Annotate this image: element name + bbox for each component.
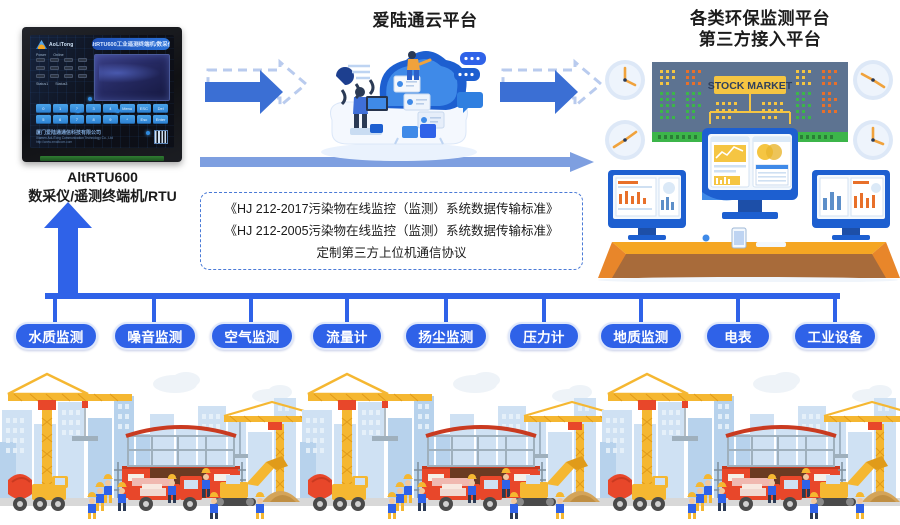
sensor-tag-2[interactable]: 空气监测 (210, 322, 294, 350)
rtu-device-image: AoLiTong AltRTU600工业遥测终端机/数采仪 Power Onli… (22, 27, 182, 162)
qr-code-icon (154, 130, 168, 144)
board-label-text: STOCK MARKET (708, 80, 793, 92)
led-indicator (50, 66, 59, 70)
bus-drop-line (249, 299, 253, 322)
bus-drop-line (53, 299, 57, 322)
monitor-platform-title-line2: 第三方接入平台 (620, 29, 900, 50)
device-terminal-strip (40, 156, 164, 161)
circuit-node-dot (76, 109, 80, 113)
solid-arrow (205, 70, 283, 114)
monitor-platform-title: 各类环保监测平台 第三方接入平台 (620, 8, 900, 50)
led-row (36, 66, 88, 70)
circuit-node-dot (88, 97, 92, 101)
led-indicator (64, 74, 73, 78)
device-lcd-screen (94, 54, 170, 101)
device-key-0[interactable]: 0 (36, 104, 51, 113)
device-led-block: Power Online (36, 53, 88, 87)
wall-clock-icon (605, 120, 645, 160)
protocol-line-2: 《HJ 212-2005污染物在线监控（监测）系统数据传输标准》 (224, 221, 558, 241)
led-row (36, 74, 88, 78)
scene-tile (600, 372, 900, 525)
sensor-tag-5[interactable]: 压力计 (508, 322, 580, 350)
cloud-platform-illustration (308, 34, 490, 166)
device-key-enter[interactable]: Enter (153, 115, 168, 124)
illustration-shadow (321, 143, 477, 161)
bus-horizontal-line (45, 293, 840, 299)
led-indicator (36, 74, 45, 78)
device-model-banner: AltRTU600工业遥测终端机/数采仪 (92, 38, 170, 50)
bus-drop-line (542, 299, 546, 322)
device-key-7[interactable]: 7 (70, 115, 85, 124)
led-indicator (36, 58, 45, 62)
right-monitor (812, 170, 890, 240)
uplink-arrow-shape (44, 202, 92, 296)
circuit-node-dot (116, 109, 120, 113)
device-key-esc[interactable]: ESC (137, 104, 152, 113)
construction-site-scene (0, 362, 900, 525)
led-indicator (78, 58, 87, 62)
device-model-name: AltRTU600 (0, 168, 205, 187)
device-keypad[interactable]: 01234MenuESCDel56789*EscEnter (36, 104, 168, 124)
device-company-text: 厦门爱陆通通信科技有限公司 Xiamen AoLiTong Communicat… (36, 129, 146, 144)
flow-arrow-device-to-cloud (200, 48, 310, 153)
left-monitor (608, 170, 686, 240)
device-caption: AltRTU600 数采仪/遥测终端机/RTU (0, 168, 205, 206)
device-key-menu[interactable]: Menu (120, 104, 135, 113)
device-key-*[interactable]: * (120, 115, 135, 124)
bus-drop-line (345, 299, 349, 322)
wall-clock-icon (853, 120, 893, 160)
led-indicator (50, 74, 59, 78)
device-key-8[interactable]: 8 (86, 115, 101, 124)
uplink-arrow (40, 200, 96, 296)
device-key-1[interactable]: 1 (53, 104, 68, 113)
sensor-tag-7[interactable]: 电表 (705, 322, 771, 350)
led-indicator (50, 58, 59, 62)
monitoring-platform-illustration: STOCK MARKET (598, 52, 900, 282)
device-key-9[interactable]: 9 (103, 115, 118, 124)
protocol-line-3: 定制第三方上位机通信协议 (316, 243, 466, 263)
led-indicator (78, 74, 87, 78)
sensor-tag-8[interactable]: 工业设备 (793, 322, 877, 350)
status-labels: Status1 Status3 (36, 82, 88, 86)
bus-drop-line (833, 299, 837, 322)
logo-text: AoLiTong (49, 42, 74, 48)
sensor-tag-1[interactable]: 噪音监测 (113, 322, 197, 350)
led-indicator (64, 58, 73, 62)
led-labels: Power Online (36, 53, 88, 57)
sensor-tag-6[interactable]: 地质监测 (599, 322, 683, 350)
sensor-tag-0[interactable]: 水质监测 (14, 322, 98, 350)
cloud-platform-title: 爱陆通云平台 (305, 10, 545, 31)
wall-clock-icon (853, 60, 893, 100)
sensor-tag-3[interactable]: 流量计 (311, 322, 383, 350)
bus-drop-line (444, 299, 448, 322)
device-key-del[interactable]: Del (153, 104, 168, 113)
diagram-canvas: 爱陆通云平台 各类环保监测平台 第三方接入平台 AoLiTong AltRTU6… (0, 0, 900, 525)
protocol-standards-box: 《HJ 212-2017污染物在线监控（监测）系统数据传输标准》 《HJ 212… (200, 192, 583, 270)
solid-arrow (500, 70, 578, 114)
device-brand-logo: AoLiTong (36, 39, 86, 50)
device-key-6[interactable]: 6 (53, 115, 68, 124)
device-key-esc[interactable]: Esc (137, 115, 152, 124)
scene-tile (0, 372, 322, 525)
device-key-3[interactable]: 3 (86, 104, 101, 113)
protocol-line-1: 《HJ 212-2017污染物在线监控（监测）系统数据传输标准》 (224, 199, 558, 219)
wall-clock-icon (605, 60, 645, 100)
led-indicator (64, 66, 73, 70)
sensor-tag-row: 水质监测噪音监测空气监测流量计扬尘监测压力计地质监测电表工业设备 (0, 322, 900, 354)
bus-drop-line (152, 299, 156, 322)
flow-arrow-cloud-to-platform (495, 48, 605, 153)
device-type-name: 数采仪/遥测终端机/RTU (0, 187, 205, 206)
bus-drop-line (736, 299, 740, 322)
led-indicator (78, 66, 87, 70)
logo-mark-icon (36, 40, 47, 49)
device-key-5[interactable]: 5 (36, 115, 51, 124)
monitor-platform-title-line1: 各类环保监测平台 (620, 8, 900, 29)
device-front-panel: AoLiTong AltRTU600工业遥测终端机/数采仪 Power Onli… (30, 35, 174, 148)
led-indicator (36, 66, 45, 70)
center-monitor (702, 128, 798, 219)
bus-drop-line (639, 299, 643, 322)
led-row (36, 58, 88, 62)
circuit-node-dot (146, 131, 150, 135)
sensor-tag-4[interactable]: 扬尘监测 (404, 322, 488, 350)
scene-tile (300, 372, 622, 525)
